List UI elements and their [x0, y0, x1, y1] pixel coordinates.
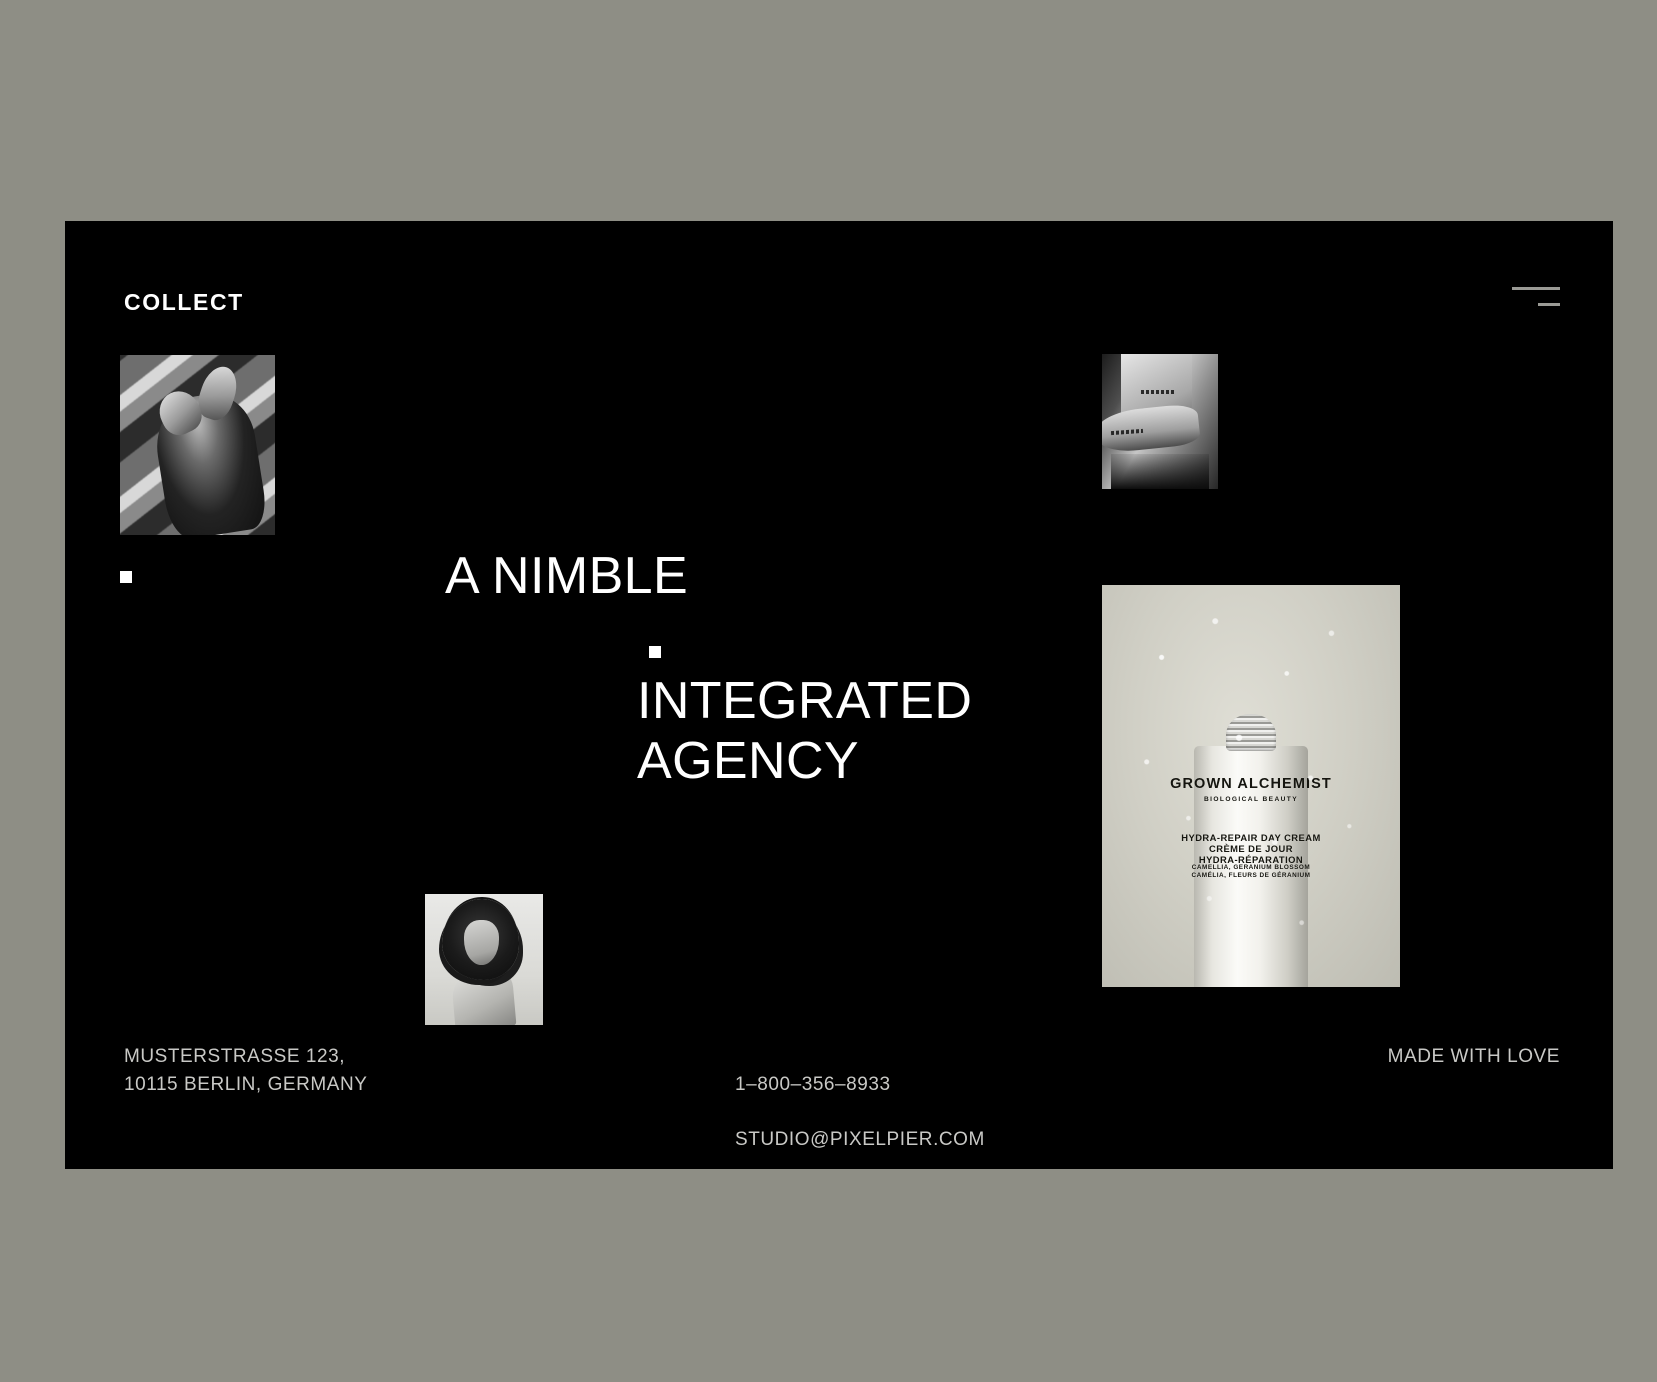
- hamburger-icon-bar-top: [1512, 287, 1560, 290]
- brand-logo[interactable]: COLLECT: [124, 291, 244, 314]
- hamburger-icon-bar-bottom: [1538, 303, 1560, 306]
- media-portrait-photo[interactable]: [425, 894, 543, 1025]
- product-tube-cap: [1226, 714, 1277, 750]
- footer-credit: MADE WITH LOVE: [1388, 1043, 1560, 1071]
- footer-phone-link[interactable]: 1–800–356–8933: [735, 1071, 985, 1099]
- media-product-photo[interactable]: GROWN ALCHEMIST BIOLOGICAL BEAUTY HYDRA-…: [1102, 585, 1400, 987]
- media-hands-photo[interactable]: [120, 355, 275, 535]
- hero-panel: COLLECT A NIMBLE INTEGRATED AGENCY: [65, 221, 1613, 1169]
- neck-photo-shadow: [1111, 454, 1208, 489]
- footer: MUSTERSTRASSE 123, 10115 BERLIN, GERMANY…: [65, 1043, 1613, 1113]
- product-tagline-label: BIOLOGICAL BEAUTY: [1102, 796, 1400, 804]
- hero-headline-line-1: A NIMBLE: [445, 546, 688, 606]
- neck-photo-tattoo-upper: [1141, 390, 1176, 394]
- media-neck-photo[interactable]: [1102, 354, 1218, 489]
- product-brand-label: GROWN ALCHEMIST: [1102, 776, 1400, 793]
- footer-contact: 1–800–356–8933 STUDIO@PIXELPIER.COM: [735, 1043, 985, 1169]
- product-ingredients-label: CAMELLIA, GERANIUM BLOSSOM CAMÉLIA, FLEU…: [1102, 864, 1400, 879]
- hero-headline-line-2: INTEGRATED AGENCY: [637, 671, 972, 792]
- square-marker-center: [649, 646, 661, 658]
- product-name-label: HYDRA-REPAIR DAY CREAM CRÈME DE JOUR HYD…: [1102, 832, 1400, 865]
- square-marker-left: [120, 571, 132, 583]
- hamburger-menu-button[interactable]: [1512, 281, 1560, 309]
- page-stage: COLLECT A NIMBLE INTEGRATED AGENCY: [0, 0, 1657, 1382]
- footer-email-link[interactable]: STUDIO@PIXELPIER.COM: [735, 1126, 985, 1154]
- footer-address: MUSTERSTRASSE 123, 10115 BERLIN, GERMANY: [124, 1043, 368, 1098]
